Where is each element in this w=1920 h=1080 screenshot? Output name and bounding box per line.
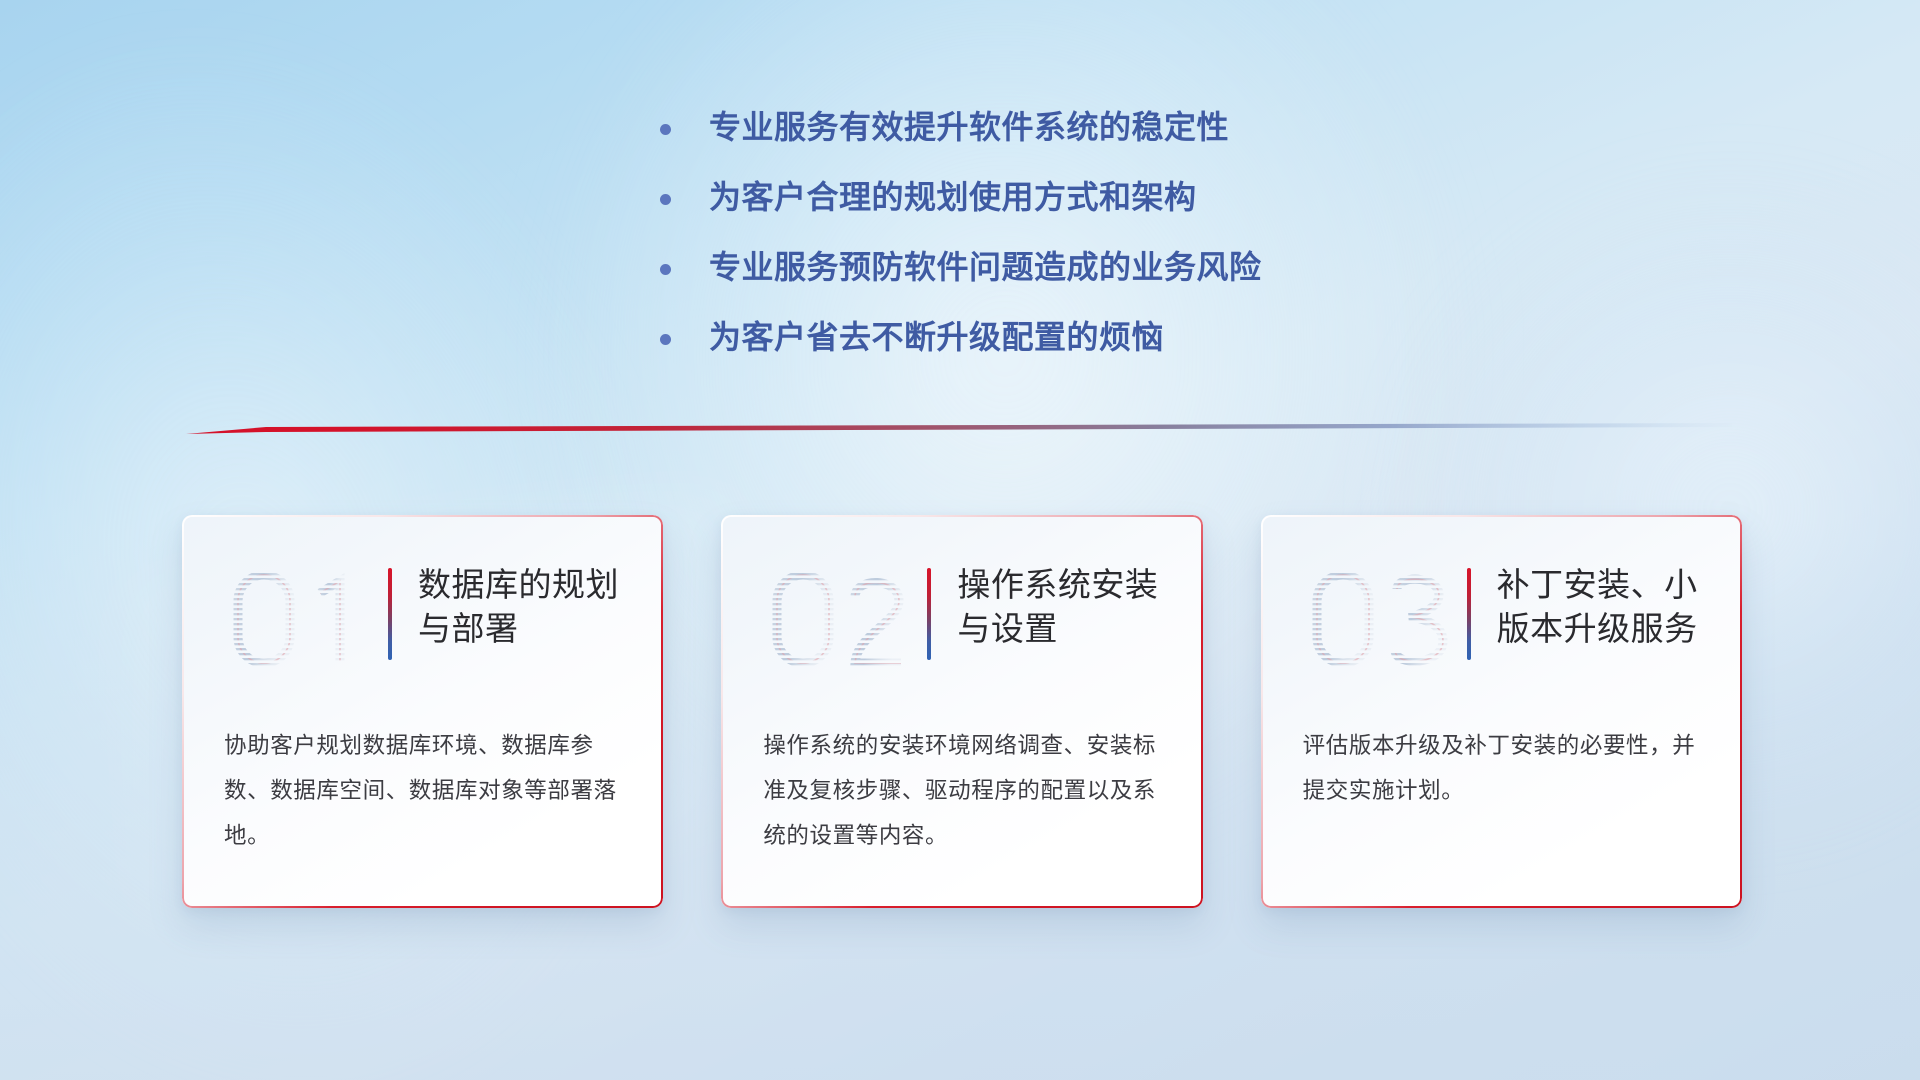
bullet-list: 专业服务有效提升软件系统的稳定性 为客户合理的规划使用方式和架构 专业服务预防软… xyxy=(660,108,1520,388)
card-title: 数据库的规划与部署 xyxy=(418,561,623,651)
bullet-dot-icon xyxy=(660,334,671,345)
bullet-text: 专业服务预防软件问题造成的业务风险 xyxy=(709,248,1262,287)
service-card-2[interactable]: 操作系统安装与设置 操作系统的安装环境网络调查、安装标准及复核步骤、驱动程序的配… xyxy=(721,515,1202,908)
card-title: 操作系统安装与设置 xyxy=(957,561,1162,651)
bullet-text: 专业服务有效提升软件系统的稳定性 xyxy=(709,108,1229,147)
slide-canvas: 专业服务有效提升软件系统的稳定性 为客户合理的规划使用方式和架构 专业服务预防软… xyxy=(0,0,1920,1080)
card-number-glyph-icon xyxy=(1303,563,1463,675)
list-item: 专业服务有效提升软件系统的稳定性 xyxy=(660,108,1520,147)
bullet-dot-icon xyxy=(660,194,671,205)
list-item: 专业服务预防软件问题造成的业务风险 xyxy=(660,248,1520,287)
card-title-rule xyxy=(927,568,931,660)
bullet-text: 为客户省去不断升级配置的烦恼 xyxy=(709,318,1164,357)
card-number-glyph-icon xyxy=(224,563,384,675)
card-title: 补丁安装、小版本升级服务 xyxy=(1497,561,1702,651)
card-header: 补丁安装、小版本升级服务 xyxy=(1303,561,1702,679)
bullet-dot-icon xyxy=(660,124,671,135)
list-item: 为客户合理的规划使用方式和架构 xyxy=(660,178,1520,217)
card-header: 操作系统安装与设置 xyxy=(763,561,1162,679)
bullet-text: 为客户合理的规划使用方式和架构 xyxy=(709,178,1197,217)
card-title-rule xyxy=(388,568,392,660)
section-divider xyxy=(186,418,1732,440)
card-title-rule xyxy=(1467,568,1471,660)
card-header: 数据库的规划与部署 xyxy=(224,561,623,679)
list-item: 为客户省去不断升级配置的烦恼 xyxy=(660,318,1520,357)
bullet-dot-icon xyxy=(660,264,671,275)
card-body-text: 评估版本升级及补丁安装的必要性，并提交实施计划。 xyxy=(1303,723,1702,813)
card-body-text: 协助客户规划数据库环境、数据库参数、数据库空间、数据库对象等部署落地。 xyxy=(224,723,623,858)
service-card-1[interactable]: 数据库的规划与部署 协助客户规划数据库环境、数据库参数、数据库空间、数据库对象等… xyxy=(182,515,663,908)
service-card-3[interactable]: 补丁安装、小版本升级服务 评估版本升级及补丁安装的必要性，并提交实施计划。 xyxy=(1261,515,1742,908)
card-row: 数据库的规划与部署 协助客户规划数据库环境、数据库参数、数据库空间、数据库对象等… xyxy=(182,515,1742,908)
card-body-text: 操作系统的安装环境网络调查、安装标准及复核步骤、驱动程序的配置以及系统的设置等内… xyxy=(763,723,1162,858)
card-number-glyph-icon xyxy=(763,563,923,675)
